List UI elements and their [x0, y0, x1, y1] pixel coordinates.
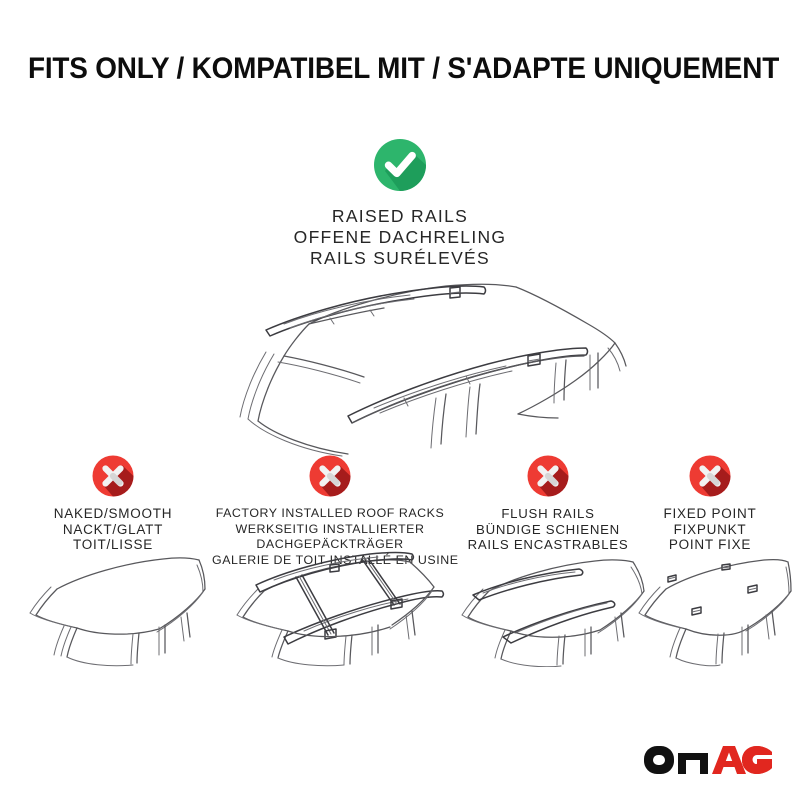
compatible-label-de: OFFENE DACHRELING [0, 227, 800, 248]
column-labels: FIXED POINT FIXPUNKT POINT FIXE [628, 506, 792, 553]
label-en: FLUSH RAILS [443, 506, 653, 522]
page-title: FITS ONLY / KOMPATIBEL MIT / S'ADAPTE UN… [28, 52, 772, 86]
fixed-point-illustration [628, 547, 792, 667]
factory-roof-rack-illustration [212, 539, 448, 667]
logo-letter-o [644, 746, 674, 774]
logo-letter-a [712, 746, 746, 774]
incompatible-column-fixed-point: FIXED POINT FIXPUNKT POINT FIXE [628, 455, 792, 553]
label-en: FACTORY INSTALLED ROOF RACKS [212, 506, 448, 522]
label-en: NAKED/SMOOTH [13, 506, 213, 522]
compatible-label-en: RAISED RAILS [0, 206, 800, 227]
label-de: BÜNDIGE SCHIENEN [443, 522, 653, 538]
incompatible-column-naked-smooth: NAKED/SMOOTH NACKT/GLATT TOIT/LISSE [13, 455, 213, 553]
label-de: FIXPUNKT [628, 522, 792, 538]
x-circle-icon [689, 455, 731, 497]
flush-rails-illustration [443, 547, 653, 667]
incompatible-column-factory-roof-racks: FACTORY INSTALLED ROOF RACKS WERKSEITIG … [212, 455, 448, 568]
x-circle-icon [92, 455, 134, 497]
logo-letter-m [678, 753, 708, 774]
column-labels: FLUSH RAILS BÜNDIGE SCHIENEN RAILS ENCAS… [443, 506, 653, 553]
omac-logo [644, 742, 772, 778]
naked-smooth-roof-illustration [13, 547, 213, 667]
compatible-labels: RAISED RAILS OFFENE DACHRELING RAILS SUR… [0, 206, 800, 269]
compatible-label-fr: RAILS SURÉLEVÉS [0, 248, 800, 269]
x-circle-icon [309, 455, 351, 497]
label-en: FIXED POINT [628, 506, 792, 522]
column-labels: NAKED/SMOOTH NACKT/GLATT TOIT/LISSE [13, 506, 213, 553]
x-circle-icon [527, 455, 569, 497]
label-de: NACKT/GLATT [13, 522, 213, 538]
label-de-1: WERKSEITIG INSTALLIERTER [212, 522, 448, 538]
check-circle-icon [373, 138, 427, 192]
raised-rails-illustration [178, 276, 630, 458]
incompatible-column-flush-rails: FLUSH RAILS BÜNDIGE SCHIENEN RAILS ENCAS… [443, 455, 653, 553]
compatible-section: RAISED RAILS OFFENE DACHRELING RAILS SUR… [0, 138, 800, 269]
logo-letter-c [742, 746, 772, 774]
